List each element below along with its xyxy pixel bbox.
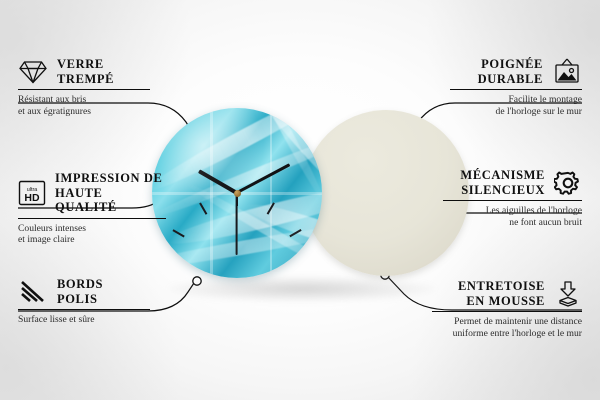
- infographic-canvas: VERRE TREMPÉ Résistant aux bris et aux é…: [0, 0, 600, 400]
- glass-gloss: [152, 108, 322, 278]
- callout-description: Surface lisse et sûre: [18, 314, 150, 326]
- clock-face: [152, 108, 322, 278]
- callout-rule: [450, 89, 582, 90]
- callout-title: BORDS POLIS: [57, 277, 103, 306]
- ultra-hd-icon: ultra HD: [18, 180, 46, 206]
- callout-rule: [18, 218, 166, 219]
- callout-impression-haute-qualite: ultra HD IMPRESSION DE HAUTE QUALITÉ Cou…: [18, 171, 166, 246]
- foam-press-icon: [554, 280, 582, 308]
- callout-description: Facilite le montage de l'horloge sur le …: [450, 94, 582, 117]
- callout-title: POIGNÉE DURABLE: [478, 57, 543, 86]
- callout-mecanisme-silencieux: MÉCANISME SILENCIEUX Les aiguilles de l'…: [443, 168, 582, 229]
- callout-description: Permet de maintenir une distance uniform…: [432, 316, 582, 339]
- diamond-icon: [18, 59, 48, 85]
- callout-rule: [443, 200, 582, 201]
- ultra-hd-icon-bottom: HD: [24, 192, 40, 204]
- callout-title: IMPRESSION DE HAUTE QUALITÉ: [55, 171, 166, 215]
- callout-rule: [18, 89, 150, 90]
- callout-title: MÉCANISME SILENCIEUX: [460, 168, 545, 197]
- callout-bords-polis: BORDS POLIS Surface lisse et sûre: [18, 277, 150, 326]
- callout-rule: [18, 309, 150, 310]
- product-drop-shadow: [168, 276, 436, 302]
- callout-rule: [432, 311, 582, 312]
- hanging-frame-icon: [552, 58, 582, 86]
- callout-description: Les aiguilles de l'horloge ne font aucun…: [443, 205, 582, 228]
- callout-poignee-durable: POIGNÉE DURABLE Facilite le montage de l…: [450, 57, 582, 118]
- callout-verre-trempe: VERRE TREMPÉ Résistant aux bris et aux é…: [18, 57, 150, 118]
- callout-title: ENTRETOISE EN MOUSSE: [458, 279, 545, 308]
- gear-icon: [554, 169, 582, 197]
- callout-description: Résistant aux bris et aux égratignures: [18, 94, 150, 117]
- polished-edges-icon: [18, 280, 48, 304]
- callout-description: Couleurs intenses et image claire: [18, 223, 166, 246]
- callout-title: VERRE TREMPÉ: [57, 57, 114, 86]
- callout-entretoise-en-mousse: ENTRETOISE EN MOUSSE Permet de maintenir…: [432, 279, 582, 340]
